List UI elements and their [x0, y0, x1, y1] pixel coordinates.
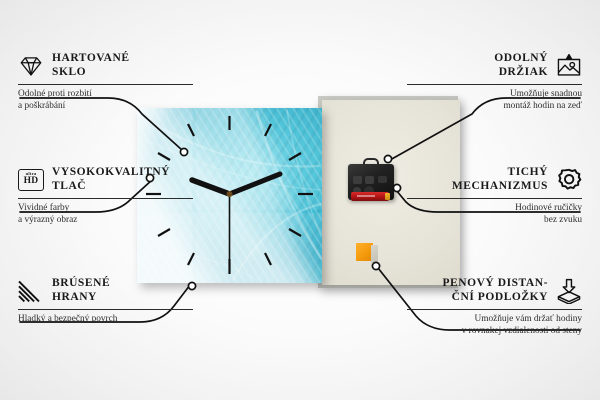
- feature-divider: [407, 309, 582, 310]
- feature-foam-spacers: PENOVÝ DISTAN- ČNÍ PODLOŽKY Umožňuje vám…: [407, 277, 582, 337]
- feature-title-line2: MECHANIZMUS: [407, 180, 548, 194]
- feature-title-line2: HRANY: [52, 291, 193, 305]
- feature-title: PENOVÝ DISTAN- ČNÍ PODLOŽKY: [407, 277, 548, 304]
- feature-desc-line1: Umožňuje snadnou: [407, 89, 582, 101]
- feature-title-line1: TICHÝ: [407, 166, 548, 180]
- diamond-icon: [18, 53, 44, 79]
- feature-title-line1: VYSOKOKVALITNÝ: [52, 166, 193, 180]
- feature-desc-line2: bez zvuku: [407, 215, 582, 227]
- clock-hands: [192, 174, 280, 260]
- picture-hanger-icon: [556, 53, 582, 79]
- feature-description: Hodinové ručičky bez zvuku: [407, 203, 582, 226]
- clock-mechanism: [348, 158, 394, 200]
- feature-divider: [407, 198, 582, 199]
- feature-header: BRÚSENÉ HRANY: [18, 277, 193, 304]
- feature-desc-line2: a výrazný obraz: [18, 215, 193, 227]
- feature-title: VYSOKOKVALITNÝ TLAČ: [52, 166, 193, 193]
- feature-title-line2: SKLO: [52, 66, 193, 80]
- feature-title-line1: BRÚSENÉ: [52, 277, 193, 291]
- feature-header: HARTOVANÉ SKLO: [18, 52, 193, 79]
- feature-title-line2: TLAČ: [52, 180, 193, 194]
- feature-title-line1: PENOVÝ DISTAN-: [407, 277, 548, 291]
- feature-header: PENOVÝ DISTAN- ČNÍ PODLOŽKY: [407, 277, 582, 304]
- feature-hardened-glass: HARTOVANÉ SKLO Odolné proti rozbití a po…: [18, 52, 193, 112]
- feature-title-line2: ČNÍ PODLOŽKY: [407, 291, 548, 305]
- feature-desc-line2: a poškrábání: [18, 101, 193, 113]
- brushed-edges-icon: [18, 278, 44, 304]
- feature-brushed-edges: BRÚSENÉ HRANY Hladký a bezpečný povrch: [18, 277, 193, 326]
- feature-title: HARTOVANÉ SKLO: [52, 52, 193, 79]
- feature-description: Odolné proti rozbití a poškrábání: [18, 89, 193, 112]
- feature-title-line1: ODOLNÝ: [407, 52, 548, 66]
- feature-desc-line1: Umožňuje vám držať hodiny: [407, 314, 582, 326]
- foam-spacer-icon: [556, 278, 582, 304]
- feature-title: BRÚSENÉ HRANY: [52, 277, 193, 304]
- mechanism-detail: [365, 176, 374, 184]
- feature-durable-holder: ODOLNÝ DRŽIAK Umožňuje snadnou montáž ho…: [407, 52, 582, 112]
- feature-title: ODOLNÝ DRŽIAK: [407, 52, 548, 79]
- feature-description: Vividné farby a výrazný obraz: [18, 203, 193, 226]
- feature-divider: [18, 198, 193, 199]
- foam-pad-side: [371, 245, 378, 263]
- feature-divider: [18, 309, 193, 310]
- feature-title: TICHÝ MECHANIZMUS: [407, 166, 548, 193]
- feature-description: Umožňuje vám držať hodiny v rovnakej vzd…: [407, 314, 582, 337]
- mechanism-detail: [353, 176, 362, 184]
- feature-desc-line2: v rovnakej vzdialenosti od steny: [407, 326, 582, 338]
- feature-title-line1: HARTOVANÉ: [52, 52, 193, 66]
- ultra-hd-icon-bottom-label: HD: [24, 177, 39, 187]
- feature-divider: [18, 84, 193, 85]
- feature-header: ultra HD VYSOKOKVALITNÝ TLAČ: [18, 166, 193, 193]
- mechanism-detail: [378, 176, 387, 183]
- feature-desc-line2: montáž hodin na zeď: [407, 101, 582, 113]
- feature-silent-mechanism: TICHÝ MECHANIZMUS Hodinové ručičky bez z…: [407, 166, 582, 226]
- feature-desc-line1: Hodinové ručičky: [407, 203, 582, 215]
- feature-description: Umožňuje snadnou montáž hodin na zeď: [407, 89, 582, 112]
- feature-header: TICHÝ MECHANIZMUS: [407, 166, 582, 193]
- mechanism-body: [348, 164, 394, 200]
- foam-spacer-pad: [356, 243, 378, 263]
- feature-description: Hladký a bezpečný povrch: [18, 314, 193, 326]
- feature-desc-line1: Vividné farby: [18, 203, 193, 215]
- gear-icon: [556, 167, 582, 193]
- feature-header: ODOLNÝ DRŽIAK: [407, 52, 582, 79]
- battery: [351, 192, 389, 201]
- ultra-hd-icon: ultra HD: [18, 169, 44, 191]
- feature-high-quality-print: ultra HD VYSOKOKVALITNÝ TLAČ Vividné far…: [18, 166, 193, 226]
- feature-divider: [407, 84, 582, 85]
- feature-desc-line1: Odolné proti rozbití: [18, 89, 193, 101]
- feature-desc-line1: Hladký a bezpečný povrch: [18, 314, 193, 326]
- feature-title-line2: DRŽIAK: [407, 66, 548, 80]
- infographic-canvas: HARTOVANÉ SKLO Odolné proti rozbití a po…: [0, 0, 600, 400]
